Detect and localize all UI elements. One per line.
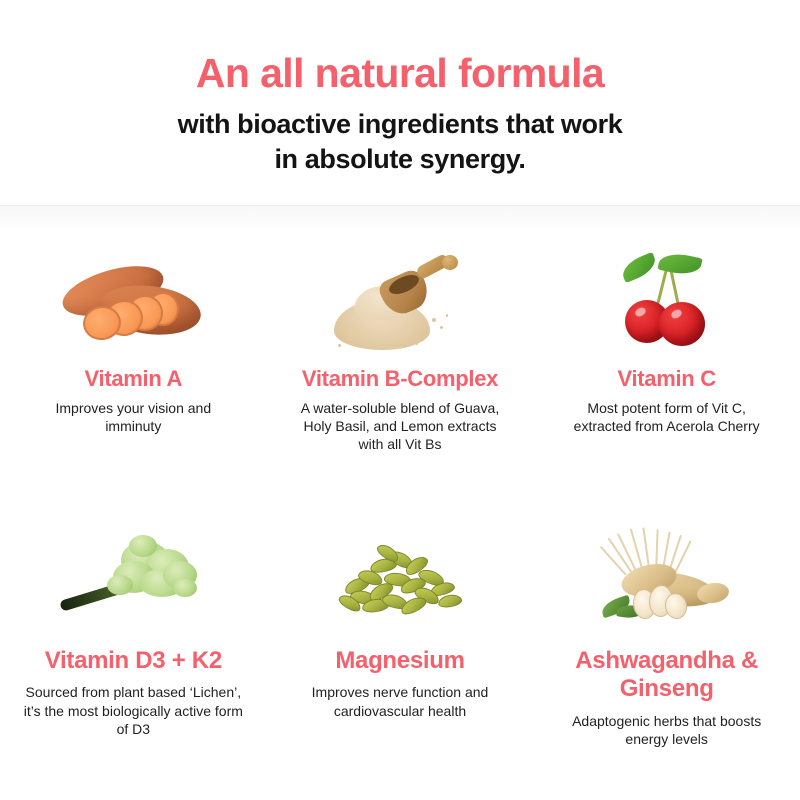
ingredient-title: Magnesium [335, 647, 464, 675]
ingredient-description: Adaptogenic herbs that boosts energy lev… [554, 712, 779, 748]
ingredient-card-vitamin-b-complex: Vitamin B-Complex A water-soluble blend … [267, 206, 534, 503]
ingredient-title: Vitamin D3 + K2 [45, 647, 222, 675]
ingredient-card-vitamin-c: Vitamin C Most potent form of Vit C, ext… [533, 206, 800, 503]
ingredient-description: Improves nerve function and cardiovascul… [287, 683, 512, 719]
lichen-icon [53, 527, 213, 631]
header-section: An all natural formula with bioactive in… [0, 0, 800, 205]
ingredients-grid: Vitamin A Improves your vision and immin… [0, 206, 800, 800]
ingredient-card-magnesium: Magnesium Improves nerve function and ca… [267, 503, 534, 800]
acerola-cherry-icon [587, 252, 747, 356]
page-subheadline: with bioactive ingredients that work in … [178, 107, 623, 177]
page-root: An all natural formula with bioactive in… [0, 0, 800, 800]
ingredient-title: Ashwagandha & Ginseng [547, 647, 786, 704]
powder-scoop-icon [320, 252, 480, 356]
subheadline-line-2: in absolute synergy. [178, 142, 623, 177]
page-headline: An all natural formula [196, 52, 604, 95]
subheadline-line-1: with bioactive ingredients that work [178, 107, 623, 142]
pumpkin-seeds-icon [320, 527, 480, 631]
ingredient-title: Vitamin B-Complex [302, 366, 498, 392]
ingredient-card-vitamin-a: Vitamin A Improves your vision and immin… [0, 206, 267, 503]
ingredient-title: Vitamin C [617, 366, 715, 392]
ingredient-description: A water-soluble blend of Guava, Holy Bas… [292, 399, 507, 454]
sweet-potato-icon [53, 252, 213, 356]
ingredient-description: Sourced from plant based ‘Lichen’, it’s … [21, 683, 246, 738]
ingredient-description: Most potent form of Vit C, extracted fro… [559, 399, 774, 435]
ginseng-root-icon [587, 527, 747, 631]
ingredient-description: Improves your vision and imminuty [26, 399, 241, 435]
ingredient-title: Vitamin A [85, 366, 183, 392]
ingredient-card-vitamin-d3-k2: Vitamin D3 + K2 Sourced from plant based… [0, 503, 267, 800]
ingredient-card-ashwagandha-ginseng: Ashwagandha & Ginseng Adaptogenic herbs … [533, 503, 800, 800]
